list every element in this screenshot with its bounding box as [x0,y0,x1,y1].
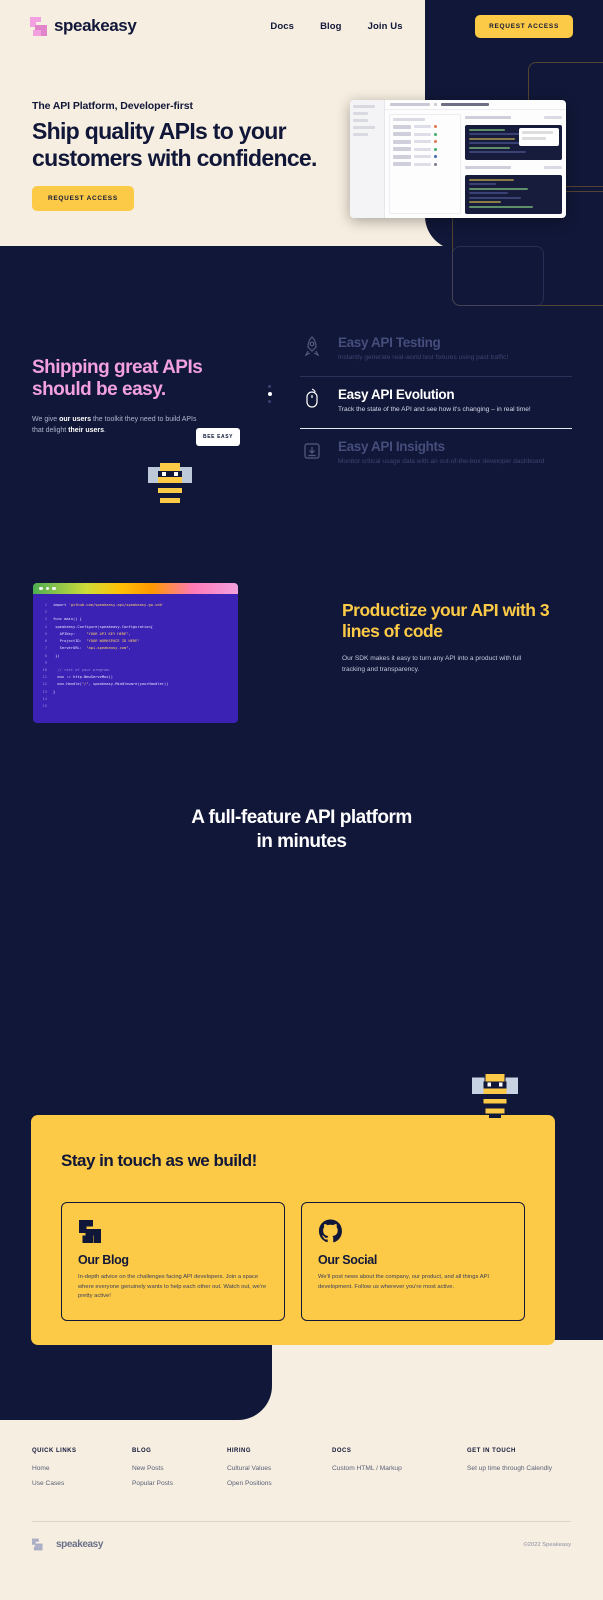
feature-title: Easy API Evolution [338,387,531,402]
brand-name: speakeasy [54,16,136,36]
platform-title-line2: in minutes [0,830,603,854]
topbar-title [441,103,489,106]
feature-title: Easy API Insights [338,439,544,454]
feature-carousel-dots[interactable] [268,385,272,403]
decorative-outline-small [452,246,544,306]
code-line-number: 2 [39,609,47,616]
sidebar-row [353,126,375,129]
page-title: Ship quality APIs to your customers with… [32,118,322,172]
footer-column-heading: QUICK LINKS [32,1448,132,1454]
code-line: 1import 'github.com/speakeasy-api/speake… [39,602,232,609]
feature-title: Easy API Testing [338,335,508,350]
code-line: 4 speakeasy.Configure(speakeasy.Configur… [39,624,232,631]
dashboard-body [385,100,566,218]
code-line-text: mux := http.NewServeMux() [53,674,113,681]
footer-column: DOCSCustom HTML / Markup [332,1448,467,1495]
code-line-number: 15 [39,703,47,710]
footer-link[interactable]: Use Cases [32,1480,132,1487]
code-line-text: } [53,689,55,696]
feature-desc: Monitor critical usage data with an out-… [338,457,544,467]
sidebar-row [353,119,368,122]
carousel-dot[interactable] [268,400,271,403]
footer-brand-name: speakeasy [56,1539,103,1550]
productize-block: Productize your API with 3 lines of code… [342,600,572,675]
main-nav: Docs Blog Join Us [270,21,402,32]
speakeasy-logo-icon [78,1219,268,1245]
hero-eyebrow: The API Platform, Developer-first [32,100,322,112]
code-sample-card: 1import 'github.com/speakeasy-api/speake… [33,583,238,723]
card-desc: We'll post news about the company, our p… [318,1273,508,1292]
feature-list: Easy API Testing Instantly generate real… [272,325,572,480]
stay-in-touch-section: Stay in touch as we build! Our Blog In-d… [31,1115,555,1345]
footer-link[interactable]: New Posts [132,1465,227,1472]
code-line-number: 7 [39,645,47,652]
footer-brand-logo[interactable]: speakeasy [32,1535,103,1554]
platform-title: A full-feature API platform in minutes [0,806,603,855]
code-line: 5 APIKey: "YOUR API KEY HERE", [39,631,232,638]
footer-column-heading: DOCS [332,1448,467,1454]
code-line-text: ServerURL: "api.speakeasy.com", [53,645,131,652]
code-line-text: mux.Handle("/", speakeasy.Middleware(you… [53,681,168,688]
card-our-blog[interactable]: Our Blog In-depth advice on the challeng… [61,1202,285,1321]
speakeasy-logo-icon [32,1539,43,1551]
carousel-dot-active[interactable] [268,392,272,396]
code-line-number: 11 [39,674,47,681]
table-header [393,118,425,121]
code-line-number: 8 [39,653,47,660]
shipping-block: Shipping great APIs should be easy. We g… [32,357,237,437]
dashboard-topbar [385,100,566,110]
code-line: 15 [39,703,232,710]
code-line: 7 ServerURL: "api.speakeasy.com", [39,645,232,652]
code-line-text: speakeasy.Configure(speakeasy.Configurat… [53,624,153,631]
dashboard-code-panel-2 [465,175,562,215]
table-row [393,125,457,129]
code-line-text: import 'github.com/speakeasy-api/speakea… [53,602,164,609]
card-our-social[interactable]: Our Social We'll post news about the com… [301,1202,525,1321]
carousel-dot[interactable] [268,385,271,388]
code-line-text: APIKey: "YOUR API KEY HERE", [53,631,131,638]
code-line: 3func main() { [39,616,232,623]
code-line: 13} [39,689,232,696]
feature-item-testing[interactable]: Easy API Testing Instantly generate real… [272,325,572,376]
panel-header [465,114,562,121]
hero-copy: The API Platform, Developer-first Ship q… [32,100,322,211]
productize-title: Productize your API with 3 lines of code [342,600,572,642]
hero-request-access-button[interactable]: REQUEST ACCESS [32,186,134,211]
code-line-text: // rest of your program. [53,667,111,674]
footer-link[interactable]: Cultural Values [227,1465,332,1472]
footer-columns: QUICK LINKSHomeUse CasesBLOGNew PostsPop… [32,1448,571,1495]
nav-item-docs[interactable]: Docs [270,21,294,32]
site-header: speakeasy Docs Blog Join Us REQUEST ACCE… [0,0,603,52]
contact-cards: Our Blog In-depth advice on the challeng… [61,1202,525,1321]
code-line-text: }) [53,653,60,660]
topbar-sep [434,103,437,106]
speakeasy-logo-icon [30,17,47,36]
shipping-body: We give our users the toolkit they need … [32,415,197,437]
code-line-number: 3 [39,616,47,623]
code-line-number: 6 [39,638,47,645]
main-dark-rounded-top [0,246,440,286]
footer-bottom-bar: speakeasy ©2022 Speakeasy [32,1522,571,1554]
footer-column: BLOGNew PostsPopular Posts [132,1448,227,1495]
card-title: Our Blog [78,1253,268,1267]
panel-header [465,164,562,171]
copyright-text: ©2022 Speakeasy [524,1542,571,1548]
feature-desc: Instantly generate real-world test fixtu… [338,353,508,363]
footer-column-heading: HIRING [227,1448,332,1454]
code-line-number: 5 [39,631,47,638]
stay-in-touch-title: Stay in touch as we build! [61,1151,525,1171]
code-line: 11 mux := http.NewServeMux() [39,674,232,681]
code-line-number: 14 [39,696,47,703]
nav-item-join-us[interactable]: Join Us [368,21,403,32]
code-window-titlebar [33,583,238,594]
code-line: 2 [39,609,232,616]
platform-title-line1: A full-feature API platform [0,806,603,830]
dashboard-dropdown-popover[interactable] [519,128,559,146]
table-row [393,132,457,136]
footer-link[interactable]: Popular Posts [132,1480,227,1487]
dashboard-right-column [465,114,562,215]
feature-item-insights[interactable]: Easy API Insights Monitor critical usage… [272,429,572,480]
feature-desc: Track the state of the API and see how i… [338,405,531,415]
pixel-bee-mascot [140,455,200,513]
code-line: 12 mux.Handle("/", speakeasy.Middleware(… [39,681,232,688]
nav-item-blog[interactable]: Blog [320,21,342,32]
window-dot-red [39,587,43,591]
footer-link[interactable]: Custom HTML / Markup [332,1465,467,1472]
code-line-number: 1 [39,602,47,609]
code-body: 1import 'github.com/speakeasy-api/speake… [33,594,238,718]
card-desc: In-depth advice on the challenges facing… [78,1273,268,1302]
pixel-bee-mascot-2 [466,1068,524,1124]
header-request-access-button[interactable]: REQUEST ACCESS [475,15,573,38]
table-row [393,162,457,166]
code-line: 6 ProjectID: "YOUR WORKSPACE ID HERE" [39,638,232,645]
sidebar-row [353,112,368,115]
footer-link[interactable]: Set up time through Calendly [467,1465,552,1472]
shipping-title: Shipping great APIs should be easy. [32,357,237,401]
topbar-crumb [390,103,430,106]
footer-column-heading: BLOG [132,1448,227,1454]
dashboard-columns [385,110,566,219]
code-line: 8 }) [39,653,232,660]
code-line-number: 10 [39,667,47,674]
code-line-number: 9 [39,660,47,667]
footer-link[interactable]: Open Positions [227,1480,332,1487]
card-title: Our Social [318,1253,508,1267]
window-dot-green [52,587,56,591]
table-row [393,140,457,144]
table-row [393,147,457,151]
sidebar-row [353,133,368,136]
table-row [393,155,457,159]
code-line: 9 [39,660,232,667]
mouse-icon [300,387,324,416]
footer-column: QUICK LINKSHomeUse Cases [32,1448,132,1495]
github-icon [318,1219,508,1245]
footer-column-heading: GET IN TOUCH [467,1448,552,1454]
window-dot-yellow [46,587,50,591]
dashboard-table [389,114,461,215]
code-line: 14 [39,696,232,703]
footer-column: HIRINGCultural ValuesOpen Positions [227,1448,332,1495]
productize-desc: Our SDK makes it easy to turn any API in… [342,654,522,675]
code-line-text: func main() { [53,616,82,623]
footer-column: GET IN TOUCHSet up time through Calendly [467,1448,552,1495]
footer-link[interactable]: Home [32,1465,132,1472]
code-line-number: 4 [39,624,47,631]
code-line-number: 12 [39,681,47,688]
code-line-text: ProjectID: "YOUR WORKSPACE ID HERE" [53,638,140,645]
dashboard-sidebar [350,100,385,218]
download-box-icon [300,439,324,468]
feature-item-evolution[interactable]: Easy API Evolution Track the state of th… [272,377,572,428]
brand-logo[interactable]: speakeasy [30,16,136,36]
bee-speech-bubble: BEE EASY [196,428,240,446]
dashboard-screenshot [350,100,566,218]
rocket-icon [300,335,324,364]
code-line: 10 // rest of your program. [39,667,232,674]
dashboard-code-panel [465,125,562,160]
site-footer: QUICK LINKSHomeUse CasesBLOGNew PostsPop… [0,1448,603,1554]
code-line-number: 13 [39,689,47,696]
sidebar-row [353,105,375,108]
